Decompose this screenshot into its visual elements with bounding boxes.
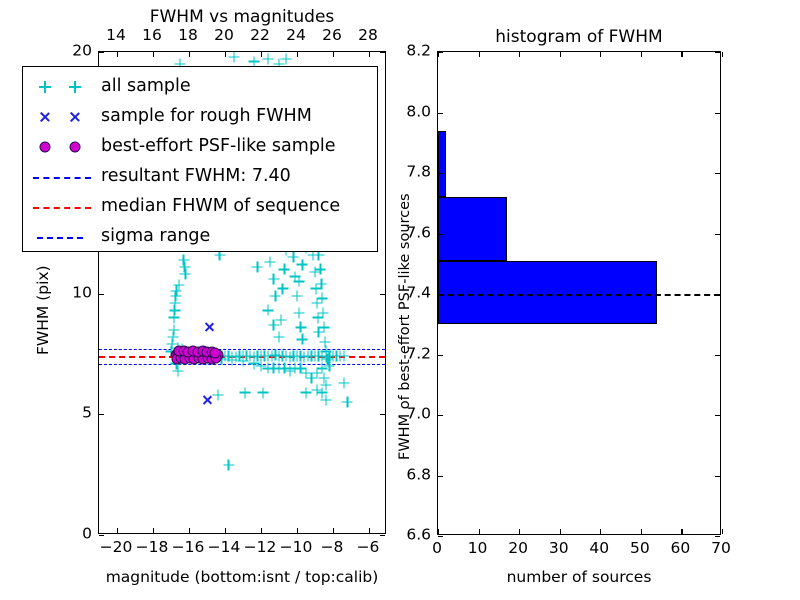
left-bottom-tick-label: −6	[357, 540, 380, 556]
scatter-point	[198, 350, 209, 361]
figure-canvas: FWHM vs magnitudes 1416182022242628 −20−…	[0, 0, 800, 600]
scatter-point	[189, 353, 200, 364]
left-bottom-tick-label: −14	[208, 540, 241, 556]
left-bottom-tick-label: −12	[244, 540, 277, 556]
scatter-point	[198, 353, 209, 364]
legend-handle-plus-marker	[23, 72, 101, 102]
dashed-line-sample	[33, 177, 91, 179]
left-bottom-tick-label: −10	[280, 540, 313, 556]
scatter-point	[295, 322, 306, 333]
scatter-point	[311, 298, 322, 309]
scatter-point	[310, 283, 321, 294]
right-x-tick-label: 0	[432, 541, 442, 557]
right-axes-frame	[437, 51, 721, 535]
legend-item[interactable]: resultant FWHM: 7.40	[23, 162, 377, 192]
left-y-tick-label: 5	[46, 406, 92, 422]
scatter-point	[187, 349, 198, 360]
scatter-point	[182, 350, 193, 361]
scatter-point	[279, 264, 290, 275]
right-x-tick-label: 20	[508, 541, 528, 557]
plus-marker	[39, 81, 51, 93]
legend-item[interactable]: sigma range	[23, 222, 377, 252]
scatter-point	[268, 319, 279, 330]
left-top-tick-label: 14	[106, 28, 126, 44]
scatter-point	[306, 373, 317, 384]
scatter-point	[319, 322, 330, 333]
right-panel-title: histogram of FWHM	[437, 29, 721, 46]
scatter-point	[202, 349, 213, 360]
dot-marker	[70, 142, 81, 153]
scatter-point	[178, 254, 189, 265]
histogram-bar	[438, 197, 507, 261]
left-top-tick-label: 16	[142, 28, 162, 44]
legend-handle-dot-marker	[23, 132, 101, 162]
scatter-point	[293, 276, 304, 287]
scatter-point	[171, 286, 182, 297]
scatter-point	[311, 368, 322, 379]
scatter-point	[313, 327, 324, 338]
right-x-tick-label: 70	[711, 541, 731, 557]
scatter-point	[297, 259, 308, 270]
left-top-tick-label: 24	[286, 28, 306, 44]
scatter-point	[168, 324, 179, 335]
right-y-tick-label: 8.0	[383, 104, 431, 120]
scatter-point	[320, 394, 331, 405]
left-panel-title: FWHM vs magnitudes	[98, 9, 386, 26]
right-x-tick-label: 50	[630, 541, 650, 557]
right-x-tick-label: 40	[589, 541, 609, 557]
legend-item[interactable]: best-effort PSF-like sample	[23, 132, 377, 162]
legend-item[interactable]: sample for rough FWHM	[23, 102, 377, 132]
legend-box[interactable]: all samplesample for rough FWHMbest-effo…	[22, 66, 378, 252]
left-y-tick-label: 0	[46, 526, 92, 542]
scatter-point	[338, 377, 349, 388]
cross-marker	[69, 111, 81, 123]
scatter-point	[277, 283, 288, 294]
legend-item-label: sample for rough FWHM	[101, 108, 312, 126]
scatter-point	[203, 322, 214, 333]
scatter-point	[270, 290, 281, 301]
right-y-tick-label: 8.2	[383, 43, 431, 59]
scatter-point	[317, 387, 328, 398]
scatter-point	[290, 271, 301, 282]
legend-item-label: sigma range	[101, 228, 210, 246]
scatter-point	[257, 387, 268, 398]
scatter-point	[178, 353, 189, 364]
scatter-point	[284, 365, 295, 376]
scatter-point	[263, 54, 274, 65]
scatter-point	[265, 257, 276, 268]
right-plot-area	[438, 52, 720, 534]
legend-handle-cross-marker	[23, 102, 101, 132]
scatter-point	[202, 394, 213, 405]
cross-marker	[39, 111, 51, 123]
scatter-point	[207, 353, 218, 364]
left-y-tick-label: 20	[46, 43, 92, 59]
dashed-line-sample	[33, 207, 91, 209]
legend-item[interactable]: median FHWM of sequence	[23, 192, 377, 222]
left-xlabel: magnitude (bottom:isnt / top:calib)	[98, 570, 386, 586]
scatter-point	[169, 305, 180, 316]
left-top-tick-label: 26	[322, 28, 342, 44]
scatter-point	[174, 280, 185, 291]
scatter-point	[173, 365, 184, 376]
scatter-point	[223, 459, 234, 470]
legend-item-label: median FHWM of sequence	[101, 198, 340, 216]
scatter-point	[301, 387, 312, 398]
scatter-point	[170, 350, 181, 361]
right-x-tick-label: 30	[549, 541, 569, 557]
scatter-point	[174, 345, 185, 356]
legend-handle-dashdot-line	[23, 222, 101, 252]
histogram-median-line	[438, 294, 720, 296]
scatter-point	[202, 353, 213, 364]
scatter-point	[322, 353, 333, 364]
scatter-point	[292, 290, 303, 301]
legend-item-label: best-effort PSF-like sample	[101, 138, 336, 156]
left-top-tick-label: 20	[214, 28, 234, 44]
scatter-point	[170, 290, 181, 301]
left-bottom-tick-label: −16	[172, 540, 205, 556]
left-y-tick-label: 10	[46, 285, 92, 301]
right-x-tick-label: 10	[468, 541, 488, 557]
histogram-bar	[438, 261, 657, 325]
left-top-tick-label: 28	[358, 28, 378, 44]
left-ylabel: FWHM (pix)	[36, 265, 52, 355]
right-ylabel: FWHM of best-effort PSF-like sources	[398, 193, 413, 460]
scatter-point	[297, 334, 308, 345]
scatter-point	[318, 307, 329, 318]
left-bottom-tick-label: −8	[321, 540, 344, 556]
scatter-point	[256, 360, 267, 371]
scatter-point	[202, 350, 213, 361]
legend-item-label: resultant FWHM: 7.40	[101, 168, 291, 186]
scatter-point	[274, 331, 285, 342]
scatter-point	[172, 353, 183, 364]
scatter-point	[169, 312, 180, 323]
legend-handle-dashed-line	[23, 192, 101, 222]
scatter-point	[311, 385, 322, 396]
dot-marker	[40, 142, 51, 153]
right-y-tick-label: 7.8	[383, 164, 431, 180]
hline-sigma-lower	[99, 364, 385, 365]
right-xlabel: number of sources	[437, 570, 721, 586]
scatter-point	[239, 387, 250, 398]
scatter-point	[319, 336, 330, 347]
scatter-point	[268, 274, 279, 285]
scatter-point	[315, 264, 326, 275]
scatter-point	[281, 54, 292, 65]
left-bottom-tick-label: −18	[136, 540, 169, 556]
right-y-tick-label: 6.6	[383, 527, 431, 543]
scatter-point	[263, 305, 274, 316]
scatter-point	[180, 269, 191, 280]
scatter-point	[169, 298, 180, 309]
scatter-point	[191, 353, 202, 364]
scatter-point	[216, 353, 227, 364]
legend-handle-dashed-line	[23, 162, 101, 192]
scatter-point	[179, 261, 190, 272]
scatter-point	[293, 307, 304, 318]
scatter-point	[194, 350, 205, 361]
hline-sigma-upper	[99, 349, 385, 350]
scatter-point	[316, 278, 327, 289]
scatter-point	[275, 315, 286, 326]
scatter-point	[317, 293, 328, 304]
right-x-tick-label: 60	[671, 541, 691, 557]
left-top-tick-label: 18	[178, 28, 198, 44]
scatter-point	[252, 261, 263, 272]
scatter-point	[310, 266, 321, 277]
scatter-point	[319, 373, 330, 384]
left-bottom-tick-label: −20	[100, 540, 133, 556]
scatter-point	[229, 52, 240, 62]
scatter-point	[320, 380, 331, 391]
scatter-point	[312, 312, 323, 323]
scatter-point	[212, 389, 223, 400]
scatter-point	[180, 353, 191, 364]
left-top-tick-label: 22	[250, 28, 270, 44]
hline-median-fwhm	[99, 356, 385, 358]
legend-item[interactable]: all sample	[23, 72, 377, 102]
scatter-point	[301, 368, 312, 379]
legend-item-label: all sample	[101, 78, 191, 96]
scatter-point	[288, 252, 299, 263]
scatter-point	[324, 360, 335, 371]
scatter-point	[342, 397, 353, 408]
histogram-bar	[438, 131, 446, 198]
plus-marker	[69, 81, 81, 93]
scatter-point	[167, 331, 178, 342]
right-y-tick-label: 6.8	[383, 467, 431, 483]
dashdot-line-sample	[37, 237, 83, 239]
